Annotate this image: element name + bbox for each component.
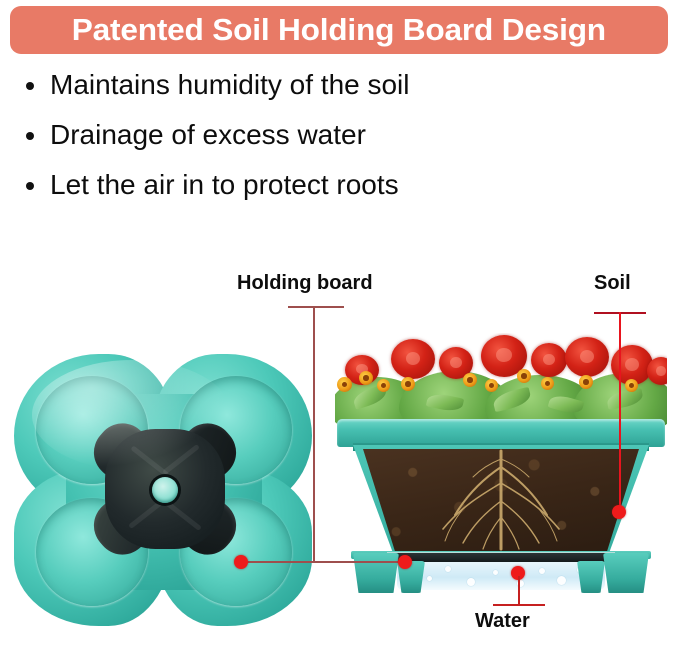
water-bubble: [427, 576, 432, 581]
red-flower: [565, 337, 609, 377]
pot-foot: [353, 553, 399, 593]
holding-board-plate: [387, 553, 615, 562]
leader-stem-holding-board: [313, 306, 315, 563]
marker-dot-holding-board-left: [234, 555, 248, 569]
soil-holding-board-part: [76, 398, 254, 580]
orange-flower: [625, 379, 638, 392]
orange-flower: [485, 379, 498, 392]
water-bubble: [467, 578, 475, 586]
water-reservoir: [397, 562, 605, 590]
header-banner: Patented Soil Holding Board Design: [10, 6, 668, 54]
pot-foot: [577, 561, 605, 593]
holding-board-rib: [128, 498, 166, 529]
water-bubble: [445, 566, 451, 572]
marker-dot-holding-board-right: [398, 555, 412, 569]
leader-stem-water: [518, 576, 520, 606]
callout-label-holding-board: Holding board: [237, 272, 373, 295]
list-item: Maintains humidity of the soil: [18, 68, 558, 102]
water-bubble: [539, 568, 545, 574]
holding-board-rib: [164, 500, 202, 531]
bullet-icon: [26, 132, 34, 140]
list-item: Let the air in to protect roots: [18, 168, 558, 202]
list-item: Drainage of excess water: [18, 118, 558, 152]
feature-text: Maintains humidity of the soil: [50, 69, 410, 100]
soil-layer: [363, 449, 639, 555]
left-product-photo: [14, 350, 314, 632]
holding-board-rib: [162, 444, 200, 475]
bullet-icon: [26, 182, 34, 190]
orange-flower: [337, 377, 352, 392]
orange-flower: [359, 371, 373, 385]
drainage-hole: [152, 477, 178, 503]
orange-flower: [401, 377, 415, 391]
red-flower: [647, 357, 667, 385]
callout-label-water: Water: [475, 610, 530, 633]
feature-list: Maintains humidity of the soil Drainage …: [18, 68, 558, 218]
pot-foot: [603, 553, 649, 593]
bullet-icon: [26, 82, 34, 90]
callout-label-soil: Soil: [594, 272, 631, 295]
feature-text: Drainage of excess water: [50, 119, 366, 150]
page-title: Patented Soil Holding Board Design: [72, 12, 606, 48]
red-flower: [391, 339, 435, 379]
water-bubble: [493, 570, 498, 575]
orange-flower: [579, 375, 593, 389]
leader-cap-holding-board: [288, 306, 344, 308]
orange-flower: [541, 377, 554, 390]
flower-canopy: [335, 333, 667, 431]
water-bubble: [557, 576, 566, 585]
leader-stem-soil: [619, 312, 621, 512]
leader-cap-water: [493, 604, 545, 606]
orange-flower: [517, 369, 531, 383]
feature-text: Let the air in to protect roots: [50, 169, 399, 200]
marker-dot-soil: [612, 505, 626, 519]
red-flower: [531, 343, 567, 377]
orange-flower: [463, 373, 477, 387]
leader-arm-holding-board: [241, 561, 407, 563]
orange-flower: [377, 379, 390, 392]
